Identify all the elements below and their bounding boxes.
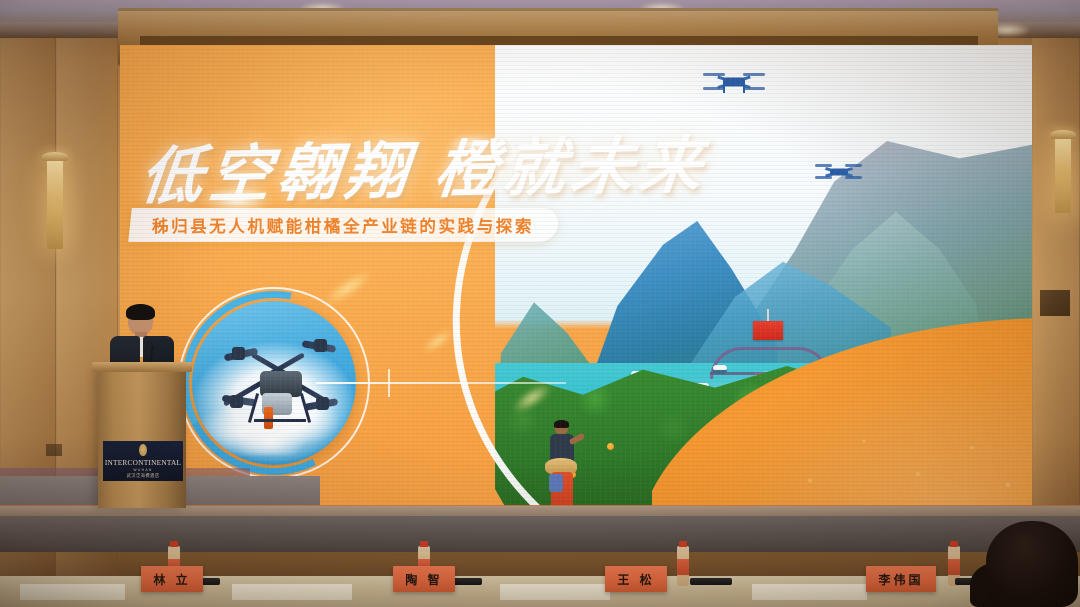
audience-member (986, 521, 1078, 607)
decor-horizontal-line (316, 382, 566, 384)
podium-logo-plate: INTERCONTINENTAL WUHAN 武汉泛海费酒店 (103, 441, 183, 481)
water-bottle (677, 546, 689, 586)
name-card: 林 立 (141, 566, 203, 592)
subtitle-text: 秭归县无人机赋能柑橘全产业链的实践与探索 (152, 213, 534, 237)
name-card: 王 松 (605, 566, 667, 592)
wall-sconce-icon (1050, 130, 1076, 213)
wall-outlet-plate (46, 444, 62, 456)
subtitle-banner: 秭归县无人机赋能柑橘全产业链的实践与探索 (128, 208, 560, 242)
name-card-label: 林 立 (153, 571, 190, 588)
name-card-label: 李伟国 (878, 571, 923, 588)
wall-sconce-icon (42, 152, 68, 249)
table-microphone (690, 578, 732, 585)
name-card-label: 王 松 (617, 571, 654, 588)
conference-stage-scene: 低空翱翔 橙就未来 秭归县无人机赋能柑橘全产业链的实践与探索 (0, 0, 1080, 607)
led-backdrop-screen: 低空翱翔 橙就未来 秭归县无人机赋能柑橘全产业链的实践与探索 (120, 45, 1032, 518)
drone-icon (817, 163, 861, 181)
table-document (232, 584, 352, 600)
name-card: 李伟国 (866, 566, 936, 592)
name-card-label: 陶 智 (405, 571, 442, 588)
river-boat (713, 365, 727, 371)
title-sparkle (450, 135, 492, 153)
wall-plate (1040, 290, 1070, 316)
name-card: 陶 智 (393, 566, 455, 592)
hotel-wordmark: INTERCONTINENTAL (105, 458, 181, 467)
china-flag-icon (753, 321, 783, 340)
hotel-city: WUHAN (133, 468, 152, 472)
drone-icon (707, 71, 761, 93)
decor-vertical-tick (388, 369, 390, 397)
podium (98, 368, 186, 508)
table-document (500, 584, 610, 600)
orchard-farmer (547, 422, 577, 518)
stage-front-panel (0, 516, 1080, 552)
podium-top (92, 362, 192, 372)
citrus-fruit-icon (607, 443, 614, 450)
table-document (752, 584, 867, 600)
table-document (20, 584, 125, 600)
intercontinental-emblem-icon (139, 444, 147, 456)
hotel-name-chinese: 武汉泛海费酒店 (127, 473, 160, 479)
